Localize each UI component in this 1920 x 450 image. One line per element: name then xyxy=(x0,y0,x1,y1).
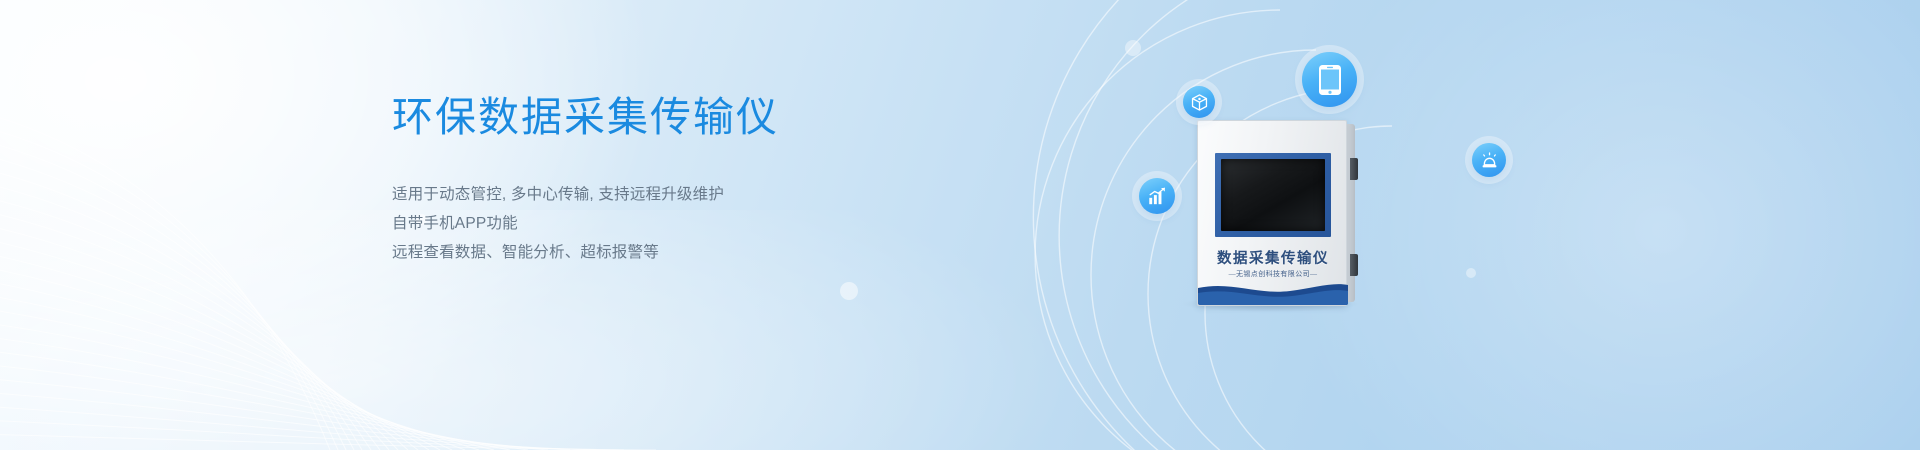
description-line-3: 远程查看数据、智能分析、超标报警等 xyxy=(392,238,912,267)
device-label-company: —无锡点创科技有限公司— xyxy=(1198,269,1348,279)
device-label-title: 数据采集传输仪 xyxy=(1198,247,1348,268)
device-front-panel: 数据采集传输仪 —无锡点创科技有限公司— xyxy=(1197,120,1347,306)
description-line-1: 适用于动态管控, 多中心传输, 支持远程升级维护 xyxy=(392,180,912,209)
badge-smart-analysis[interactable] xyxy=(1139,178,1175,214)
bar-chart-growth-icon xyxy=(1147,186,1167,206)
background-glow-right xyxy=(1280,0,1920,450)
badge-mobile-app[interactable] xyxy=(1302,52,1357,107)
device-latch-top xyxy=(1350,158,1358,180)
device-bottom-band xyxy=(1198,279,1348,305)
hero-copy: 环保数据采集传输仪 适用于动态管控, 多中心传输, 支持远程升级维护 自带手机A… xyxy=(392,96,912,267)
description-line-2: 自带手机APP功能 xyxy=(392,209,912,238)
product-device-image: 数据采集传输仪 —无锡点创科技有限公司— xyxy=(1175,114,1371,306)
bokeh-circle-small-d xyxy=(1466,268,1476,278)
page-title: 环保数据采集传输仪 xyxy=(392,96,912,139)
badge-alarm-warning[interactable] xyxy=(1472,143,1506,177)
alarm-siren-icon xyxy=(1480,151,1499,170)
product-hero-banner: 环保数据采集传输仪 适用于动态管控, 多中心传输, 支持远程升级维护 自带手机A… xyxy=(0,0,1920,450)
device-screen-bezel xyxy=(1215,153,1331,237)
mobile-phone-icon xyxy=(1318,64,1342,96)
badge-data-collection[interactable] xyxy=(1183,86,1215,118)
bokeh-circle-small-a xyxy=(1125,40,1141,56)
bokeh-circle-small-b xyxy=(840,282,858,300)
cube-box-icon xyxy=(1191,94,1208,111)
hero-description: 适用于动态管控, 多中心传输, 支持远程升级维护 自带手机APP功能 远程查看数… xyxy=(392,180,912,267)
device-screen xyxy=(1221,159,1325,231)
device-latch-bottom xyxy=(1350,254,1358,276)
